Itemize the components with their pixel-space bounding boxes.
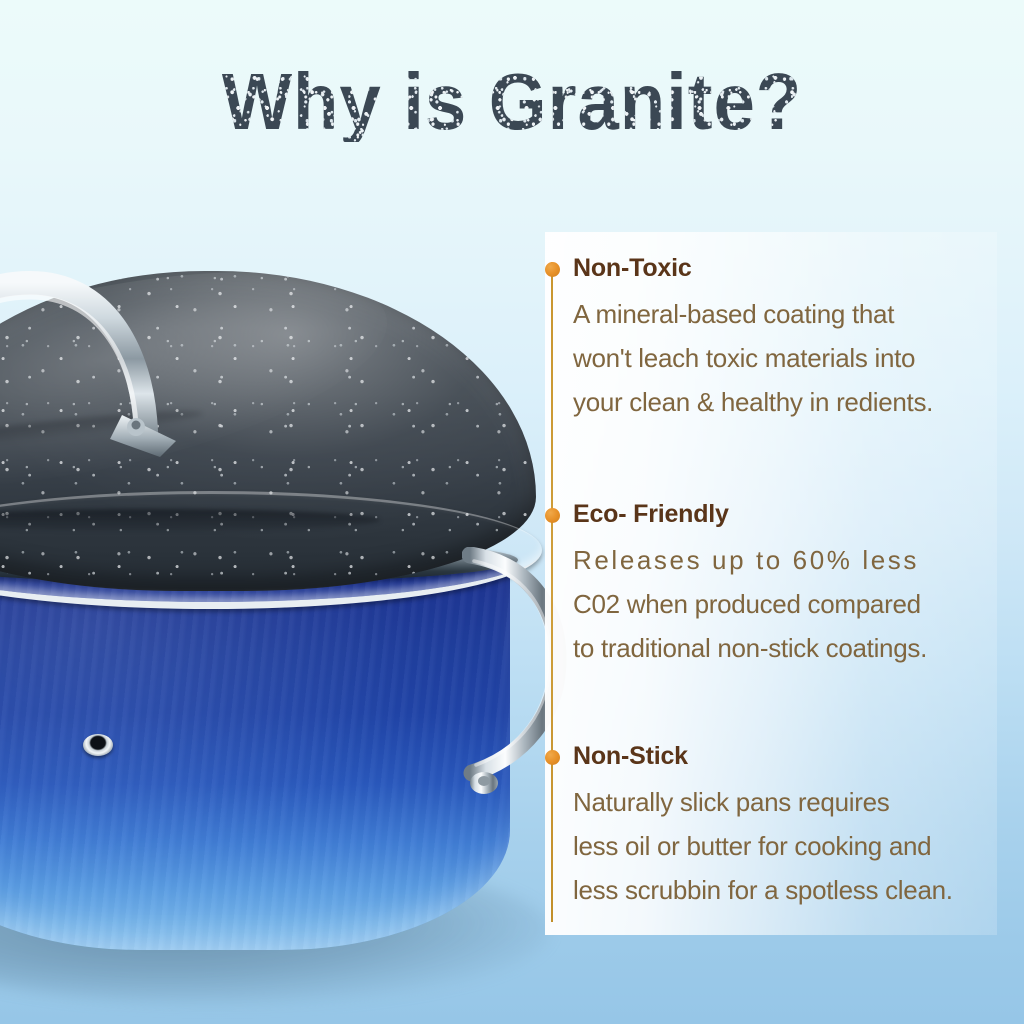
feature-heading: Non-Stick (573, 742, 688, 771)
feature-body-line: C02 when produced compared (573, 582, 995, 626)
feature-heading: Eco- Friendly (573, 500, 729, 529)
feature-body-line: Naturally slick pans requires (573, 780, 995, 824)
features-panel: Non-Toxic A mineral-based coating that w… (545, 232, 997, 935)
lid-steam-vent (83, 734, 113, 756)
poster-title-text: Why is Granite? (222, 62, 802, 142)
product-image (0, 255, 570, 1015)
feature-body-line: Releases up to 60% less (573, 538, 995, 582)
feature-body-line: your clean & healthy in redients. (573, 380, 995, 424)
timeline-rule (551, 262, 553, 922)
product-feature-poster: Why is Granite? (0, 0, 1024, 1024)
feature-body: Releases up to 60% less C02 when produce… (573, 538, 995, 670)
bullet-dot-icon (545, 750, 560, 765)
feature-body-line: to traditional non-stick coatings. (573, 626, 995, 670)
pot-body (0, 555, 510, 950)
feature-heading: Non-Toxic (573, 254, 692, 283)
bullet-dot-icon (545, 508, 560, 523)
feature-body: A mineral-based coating that won't leach… (573, 292, 995, 424)
feature-body-line: A mineral-based coating that (573, 292, 995, 336)
feature-body-line: less scrubbin for a spotless clean. (573, 868, 995, 912)
feature-body-line: less oil or butter for cooking and (573, 824, 995, 868)
bullet-dot-icon (545, 262, 560, 277)
page-title: Why is Granite? (0, 62, 1024, 142)
feature-body: Naturally slick pans requires less oil o… (573, 780, 995, 912)
feature-body-line: won't leach toxic materials into (573, 336, 995, 380)
lid-arch-handle (0, 255, 184, 465)
